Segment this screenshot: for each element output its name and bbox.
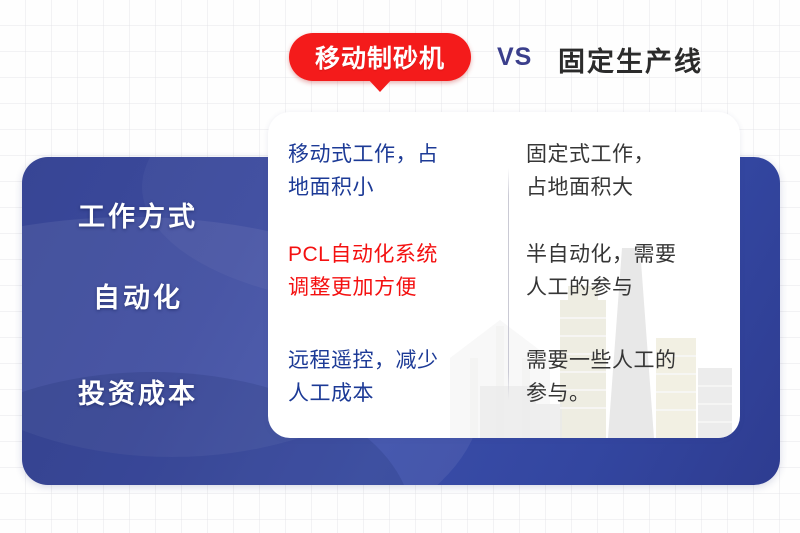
mobile-cell-automation-line1: PCL自动化系统 [288, 238, 502, 271]
mobile-cell-investment-cost-line2: 人工成本 [288, 377, 502, 410]
comparison-card: 移动式工作，占 地面积小 PCL自动化系统 调整更加方便 远程遥控，减少 人工成… [268, 112, 740, 438]
fixed-cell-automation-line1: 半自动化，需要 [526, 238, 736, 271]
mobile-cell-automation-line2: 调整更加方便 [288, 271, 502, 304]
sidebar-item-investment-cost: 投资成本 [22, 372, 254, 411]
column-divider [508, 168, 509, 400]
fixed-cell-investment-cost-line1: 需要一些人工的 [526, 344, 736, 377]
infographic-canvas: 移动制砂机 VS 固定生产线 工作方式 自动化 投资成本 [0, 0, 800, 533]
badge-label: 移动制砂机 [289, 33, 471, 81]
fixed-cell-automation: 半自动化，需要 人工的参与 [526, 238, 736, 304]
fixed-cell-automation-line2: 人工的参与 [526, 271, 736, 304]
mobile-cell-investment-cost-line1: 远程遥控，减少 [288, 344, 502, 377]
sidebar-item-automation: 自动化 [22, 276, 254, 315]
criteria-sidebar: 工作方式 自动化 投资成本 [22, 157, 272, 485]
fixed-cell-work-mode-line1: 固定式工作， [526, 138, 736, 171]
mobile-cell-work-mode-line2: 地面积小 [288, 171, 502, 204]
mobile-cell-work-mode-line1: 移动式工作，占 [288, 138, 502, 171]
fixed-cell-investment-cost-line2: 参与。 [526, 377, 736, 410]
sidebar-item-work-mode: 工作方式 [22, 195, 254, 234]
vs-label: VS [497, 43, 532, 72]
fixed-cell-work-mode-line2: 占地面积大 [526, 171, 736, 204]
mobile-product-badge: 移动制砂机 [289, 33, 471, 81]
mobile-cell-investment-cost: 远程遥控，减少 人工成本 [288, 344, 502, 410]
header: 移动制砂机 VS 固定生产线 [0, 26, 800, 96]
fixed-cell-investment-cost: 需要一些人工的 参与。 [526, 344, 736, 410]
fixed-cell-work-mode: 固定式工作， 占地面积大 [526, 138, 736, 204]
fixed-production-line-title: 固定生产线 [558, 40, 703, 79]
mobile-cell-work-mode: 移动式工作，占 地面积小 [288, 138, 502, 204]
mobile-cell-automation: PCL自动化系统 调整更加方便 [288, 238, 502, 304]
